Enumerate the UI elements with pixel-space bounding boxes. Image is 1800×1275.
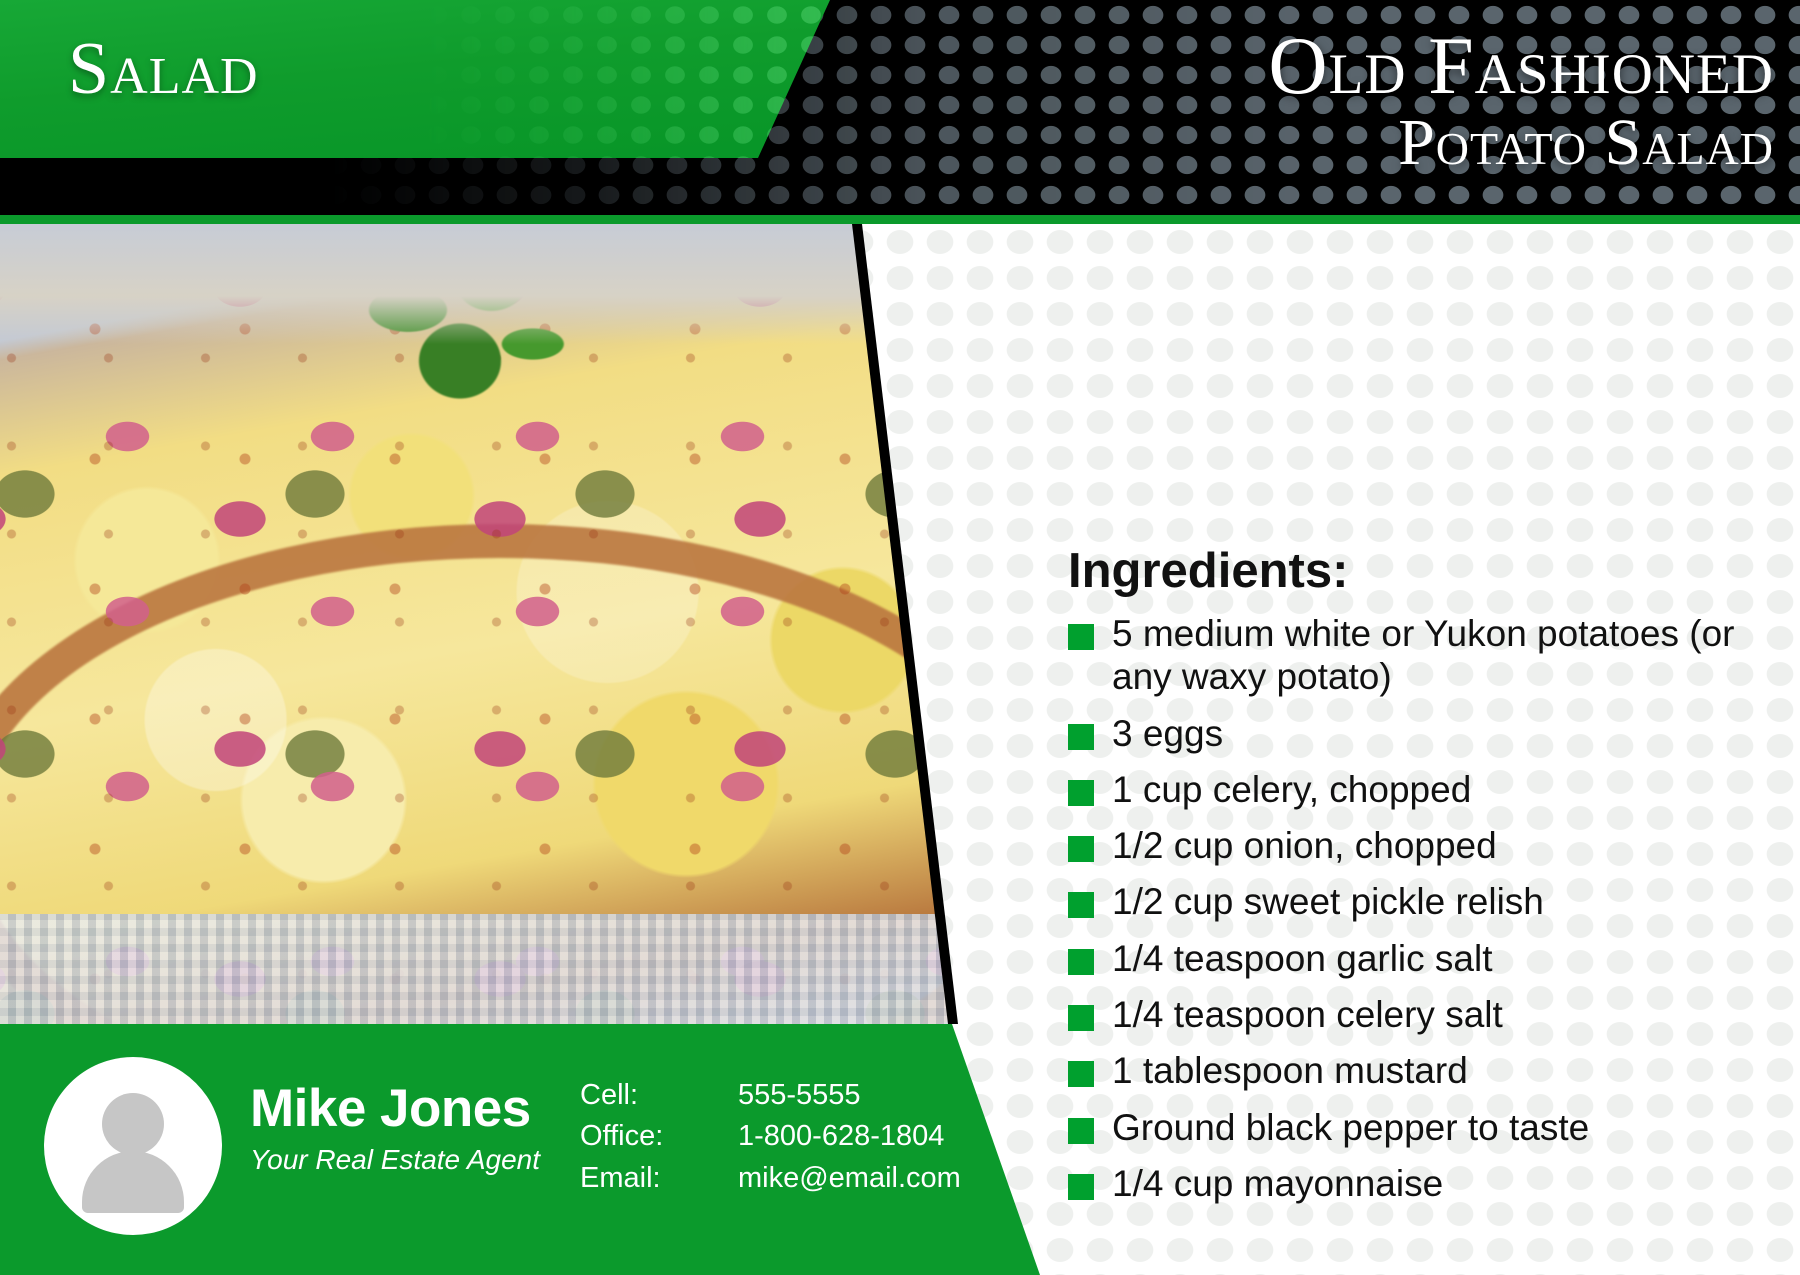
recipe-photo [0,224,980,1024]
recipe-title-group: Old Fashioned Potato Salad [1268,26,1774,178]
list-item: 1/4 teaspoon garlic salt [1068,937,1788,980]
recipe-card: Salad Old Fashioned Potato Salad [0,0,1800,1275]
recipe-title-main: Old Fashioned [1268,26,1774,106]
list-item: 1/4 cup mayonnaise [1068,1162,1788,1205]
checkered-cloth [0,914,980,1024]
ingredients-heading: Ingredients: [1068,547,1348,596]
card-header: Salad Old Fashioned Potato Salad [0,0,1800,215]
avatar-head-icon [102,1093,164,1155]
square-bullet-icon [1068,724,1094,750]
ingredient-text: 1/2 cup onion, chopped [1112,824,1497,867]
contact-value-office[interactable]: 1-800-628-1804 [738,1121,961,1151]
list-item: 1 tablespoon mustard [1068,1049,1788,1092]
ingredient-text: 1/4 teaspoon celery salt [1112,993,1503,1036]
square-bullet-icon [1068,1061,1094,1087]
ingredient-text: 3 eggs [1112,712,1223,755]
list-item: 1 cup celery, chopped [1068,768,1788,811]
square-bullet-icon [1068,1118,1094,1144]
avatar [44,1057,222,1235]
square-bullet-icon [1068,892,1094,918]
list-item: 1/2 cup onion, chopped [1068,824,1788,867]
photo-background-blur [0,224,980,344]
contact-label-office: Office: [580,1121,700,1151]
list-item: 5 medium white or Yukon potatoes (or any… [1068,612,1788,699]
agent-role: Your Real Estate Agent [250,1146,540,1174]
ingredient-text: 1 cup celery, chopped [1112,768,1471,811]
ingredient-text: 1/4 cup mayonnaise [1112,1162,1443,1205]
card-body: Mike Jones Your Real Estate Agent Cell: … [0,224,1800,1275]
ingredient-text: 1/2 cup sweet pickle relish [1112,880,1544,923]
ingredients-list: 5 medium white or Yukon potatoes (or any… [1068,612,1788,1218]
agent-name: Mike Jones [250,1082,531,1135]
ingredient-text: 1/4 teaspoon garlic salt [1112,937,1493,980]
contact-label-email: Email: [580,1163,700,1193]
contact-value-email[interactable]: mike@email.com [738,1163,961,1193]
contact-label-cell: Cell: [580,1080,700,1110]
recipe-category-label: Salad [68,32,259,106]
ingredient-text: Ground black pepper to taste [1112,1106,1589,1149]
ingredient-text: 1 tablespoon mustard [1112,1049,1468,1092]
square-bullet-icon [1068,1005,1094,1031]
list-item: 1/2 cup sweet pickle relish [1068,880,1788,923]
avatar-body-icon [82,1151,184,1213]
square-bullet-icon [1068,1174,1094,1200]
recipe-title-sub: Potato Salad [1268,108,1774,177]
square-bullet-icon [1068,780,1094,806]
agent-footer-bar: Mike Jones Your Real Estate Agent Cell: … [0,1024,1040,1275]
square-bullet-icon [1068,624,1094,650]
square-bullet-icon [1068,836,1094,862]
list-item: 3 eggs [1068,712,1788,755]
contact-value-cell[interactable]: 555-5555 [738,1080,961,1110]
ingredient-text: 5 medium white or Yukon potatoes (or any… [1112,612,1788,699]
header-green-divider [0,215,1800,224]
agent-contact-list: Cell: 555-5555 Office: 1-800-628-1804 Em… [580,1080,961,1193]
list-item: Ground black pepper to taste [1068,1106,1788,1149]
list-item: 1/4 teaspoon celery salt [1068,993,1788,1036]
square-bullet-icon [1068,949,1094,975]
